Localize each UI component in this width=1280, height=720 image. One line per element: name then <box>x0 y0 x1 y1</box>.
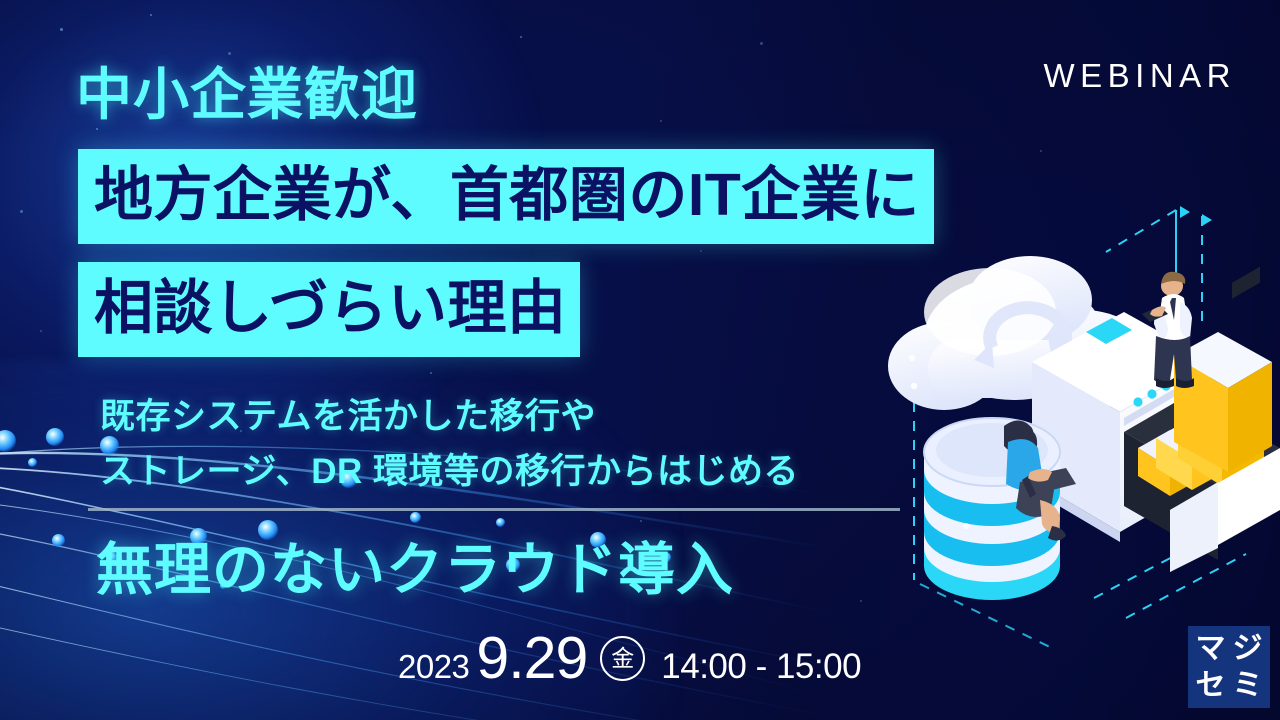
subtitle-line-1: 既存システムを活かした移行や <box>100 388 596 439</box>
schedule-row: 2023 9.29 金 14:00 - 15:00 <box>398 624 861 692</box>
headline-line-1: 地方企業が、首都圏のIT企業に <box>78 149 934 244</box>
subtitle-line-2: ストレージ、DR 環境等の移行からはじめる <box>100 443 799 494</box>
isometric-cloud-illustration <box>880 180 1280 640</box>
schedule-weekday: 金 <box>611 647 634 670</box>
webinar-badge: WEBINAR <box>1043 57 1236 95</box>
schedule-year: 2023 <box>398 648 469 686</box>
webinar-banner: WEBINAR 中小企業歓迎 地方企業が、首都圏のIT企業に 相談しづらい理由 … <box>0 0 1280 720</box>
section-divider <box>88 508 900 511</box>
majiseme-logo[interactable]: マ ジ セ ミ <box>1188 626 1270 708</box>
headline-line-2: 相談しづらい理由 <box>78 262 580 357</box>
logo-char-4: ミ <box>1233 671 1263 701</box>
schedule-weekday-circle: 金 <box>600 636 645 681</box>
schedule-time: 14:00 - 15:00 <box>661 647 861 687</box>
schedule-month-day: 9.29 <box>476 624 587 692</box>
tagline-text: 無理のないクラウド導入 <box>96 524 734 606</box>
logo-char-2: ジ <box>1233 634 1263 664</box>
logo-char-3: セ <box>1196 671 1226 701</box>
eyebrow-text: 中小企業歓迎 <box>76 50 418 131</box>
logo-char-1: マ <box>1196 634 1226 664</box>
